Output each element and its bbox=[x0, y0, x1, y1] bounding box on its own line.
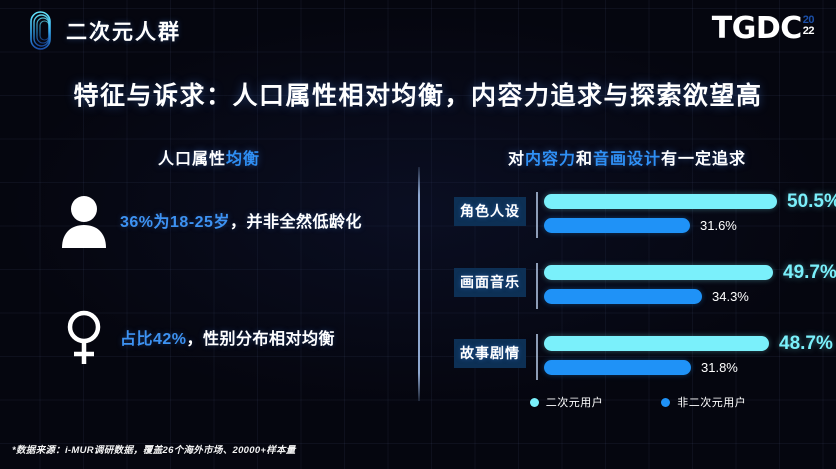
bar-2-series-1 bbox=[544, 360, 691, 375]
fact-age-highlight: 36%为18-25岁 bbox=[120, 214, 230, 231]
legend-dot-icon-0 bbox=[530, 398, 539, 407]
right-sub-highlight-2: 音画设计 bbox=[593, 151, 661, 168]
bar-value-1-series-0: 49.7% bbox=[783, 263, 836, 282]
bar-1-series-0 bbox=[544, 265, 773, 280]
right-sub-plain-3: 有一定追求 bbox=[661, 151, 746, 168]
bar-axis-tick-0 bbox=[536, 192, 538, 238]
bar-group-0: 角色人设 50.5% 31.6% bbox=[440, 188, 836, 244]
legend-dot-icon-1 bbox=[661, 398, 670, 407]
bar-axis-tick-1 bbox=[536, 263, 538, 309]
tgdc-wordmark: TGDC bbox=[712, 14, 802, 44]
legend-label-1: 非二次元用户 bbox=[677, 394, 746, 410]
chart-legend: 二次元用户 非二次元用户 bbox=[440, 394, 836, 410]
legend-item-1[interactable]: 非二次元用户 bbox=[661, 394, 746, 410]
fact-age-text: 36%为18-25岁，并非全然低龄化 bbox=[120, 208, 362, 232]
bar-value-2-series-1: 31.8% bbox=[701, 361, 738, 374]
right-sub-plain-1: 对 bbox=[508, 151, 525, 168]
bar-2-series-0 bbox=[544, 336, 769, 351]
tgdc-logo: TGDC 20 22 bbox=[712, 14, 814, 44]
bar-track-2-secondary: 31.8% bbox=[544, 360, 830, 380]
bar-group-2: 故事剧情 48.7% 31.8% bbox=[440, 330, 836, 386]
right-sub-plain-2: 和 bbox=[576, 151, 593, 168]
bar-value-0-series-0: 50.5% bbox=[787, 192, 836, 211]
left-sub-highlight-1: 均衡 bbox=[226, 151, 260, 168]
bar-track-1-secondary: 34.3% bbox=[544, 289, 830, 309]
female-gender-icon bbox=[48, 308, 120, 366]
tgdc-year: 20 22 bbox=[803, 15, 814, 37]
bar-track-0-secondary: 31.6% bbox=[544, 218, 830, 238]
bar-category-label-2: 故事剧情 bbox=[454, 339, 526, 368]
bar-value-2-series-0: 48.7% bbox=[779, 334, 833, 353]
person-icon bbox=[48, 192, 120, 248]
right-sub-highlight-1: 内容力 bbox=[525, 151, 576, 168]
brand-title: 二次元人群 bbox=[66, 16, 181, 46]
bar-chart: 角色人设 50.5% 31.6% 画面音乐 49.7% 34.3% 故事剧情 4… bbox=[440, 188, 836, 388]
bar-category-label-1: 画面音乐 bbox=[454, 268, 526, 297]
brand: 二次元人群 bbox=[30, 11, 181, 51]
tgdc-year-bottom: 22 bbox=[803, 26, 814, 37]
left-panel-subheading: 人口属性均衡 bbox=[0, 145, 418, 169]
fact-gender-highlight: 占比42% bbox=[120, 331, 187, 348]
fact-gender-text: 占比42%，性别分布相对均衡 bbox=[120, 325, 335, 349]
fact-gender-plain: ，性别分布相对均衡 bbox=[187, 331, 336, 348]
page-header: 二次元人群 TGDC 20 22 bbox=[0, 0, 836, 62]
source-footnote: *数据来源：i-MUR调研数据，覆盖26个海外市场、20000+样本量 bbox=[12, 442, 296, 456]
bar-0-series-1 bbox=[544, 218, 690, 233]
legend-item-0[interactable]: 二次元用户 bbox=[530, 394, 604, 410]
legend-label-0: 二次元用户 bbox=[546, 394, 604, 410]
right-panel-subheading: 对内容力和音画设计有一定追求 bbox=[418, 145, 836, 169]
left-sub-plain-1: 人口属性 bbox=[158, 151, 226, 168]
bar-1-series-1 bbox=[544, 289, 702, 304]
fact-gender: 占比42%，性别分布相对均衡 bbox=[48, 308, 335, 366]
pill-rings-icon bbox=[30, 11, 52, 51]
fact-age-plain: ，并非全然低龄化 bbox=[230, 214, 362, 231]
bar-track-2-primary: 48.7% bbox=[544, 336, 830, 356]
bar-category-label-0: 角色人设 bbox=[454, 197, 526, 226]
fact-age: 36%为18-25岁，并非全然低龄化 bbox=[48, 192, 362, 248]
bar-group-1: 画面音乐 49.7% 34.3% bbox=[440, 259, 836, 315]
bar-value-0-series-1: 31.6% bbox=[700, 219, 737, 232]
bar-axis-tick-2 bbox=[536, 334, 538, 380]
bar-0-series-0 bbox=[544, 194, 777, 209]
bar-track-1-primary: 49.7% bbox=[544, 265, 830, 285]
panel-divider bbox=[418, 167, 420, 401]
page-title: 特征与诉求：人口属性相对均衡，内容力追求与探索欲望高 bbox=[0, 76, 836, 112]
bar-track-0-primary: 50.5% bbox=[544, 194, 830, 214]
bar-value-1-series-1: 34.3% bbox=[712, 290, 749, 303]
